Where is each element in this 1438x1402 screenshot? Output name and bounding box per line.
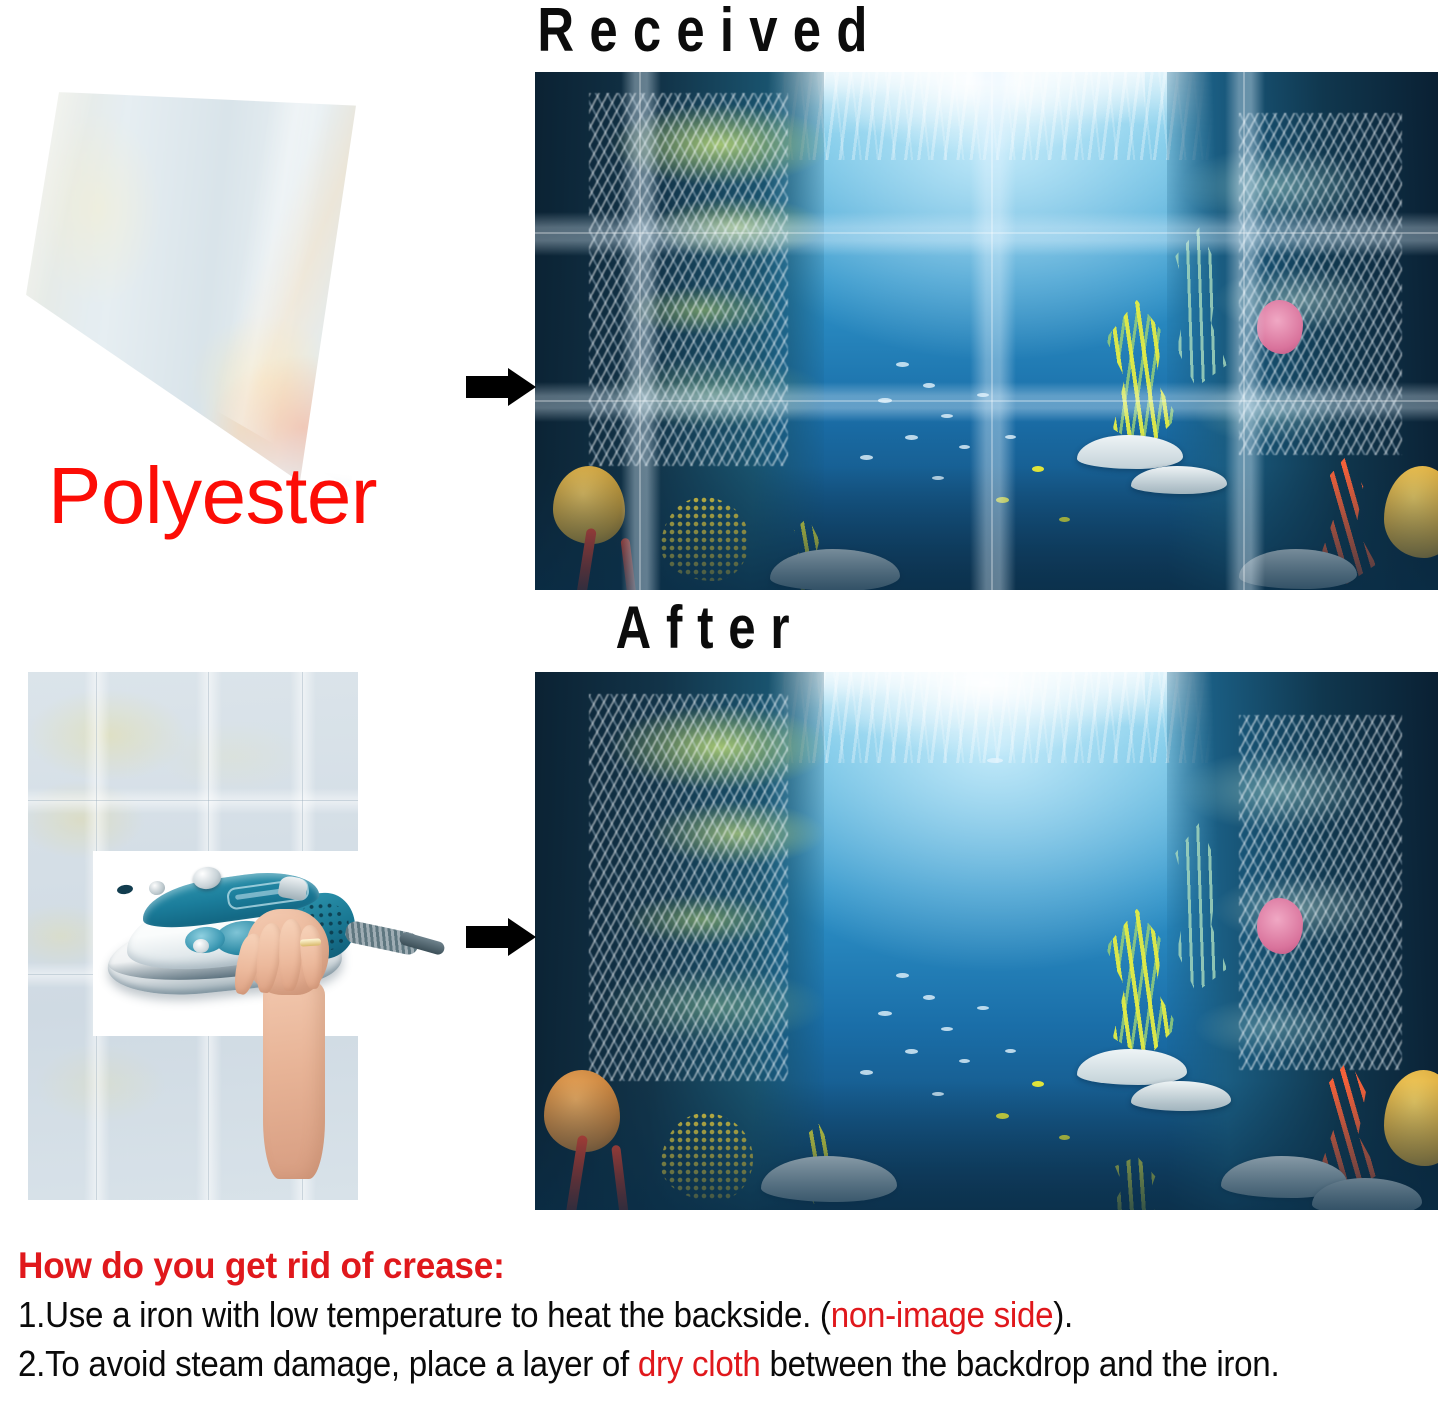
fish <box>977 1006 989 1010</box>
fabric-fold-highlight <box>18 88 418 488</box>
iron-photo-card <box>93 851 393 1036</box>
instruction-2-prefix: 2.To avoid steam damage, place a layer o… <box>18 1343 638 1384</box>
instruction-2-suffix: between the backdrop and the iron. <box>761 1343 1280 1384</box>
instruction-line-1: 1.Use a iron with low temperature to hea… <box>18 1292 1315 1337</box>
reef-floor-shadow <box>535 466 1438 590</box>
after-backdrop-photo <box>535 672 1438 1210</box>
received-title: Received <box>456 0 964 64</box>
polyester-material-label: Polyester <box>48 455 377 537</box>
instruction-line-2: 2.To avoid steam damage, place a layer o… <box>18 1341 1315 1386</box>
reef-crust-right <box>1239 113 1402 455</box>
fish <box>941 414 953 418</box>
reef-crust-left <box>589 93 788 466</box>
fish <box>923 995 935 1000</box>
fish <box>1005 1049 1016 1053</box>
arrow-shaft <box>466 926 509 947</box>
fish <box>987 758 1003 763</box>
backside-crease-horizontal <box>28 788 358 814</box>
instructions-heading: How do you get rid of crease: <box>18 1244 1358 1288</box>
instruction-1-prefix: 1.Use a iron with low temperature to hea… <box>18 1294 831 1335</box>
coral-pink <box>1257 898 1303 954</box>
fish <box>905 1049 918 1054</box>
right-arrow-icon-after <box>466 918 536 956</box>
instruction-1-highlight: non-image side <box>831 1294 1054 1335</box>
arrow-shaft <box>466 376 509 397</box>
right-arrow-icon-received <box>466 368 536 406</box>
coral-pink <box>1257 300 1303 354</box>
reef-crust-left <box>589 694 788 1081</box>
instruction-graphic: Received Polyester <box>0 0 1438 1402</box>
reef-crust-right <box>1239 715 1402 1070</box>
fish <box>923 383 935 388</box>
fish <box>905 435 918 440</box>
backside-crease-line <box>28 800 358 801</box>
fish <box>878 1011 892 1016</box>
instructions-block: How do you get rid of crease: 1.Use a ir… <box>18 1244 1428 1386</box>
instruction-2-highlight: dry cloth <box>638 1343 761 1384</box>
iron-power-cord-tail <box>398 931 446 956</box>
fish <box>1005 435 1016 439</box>
received-backdrop-photo <box>535 72 1438 590</box>
after-title: After <box>513 596 907 660</box>
polyester-fabric-swatch <box>18 88 418 488</box>
instruction-1-suffix: ). <box>1053 1294 1073 1335</box>
arrow-head <box>508 368 536 406</box>
arrow-head <box>508 918 536 956</box>
reef-floor-shadow <box>535 1081 1438 1210</box>
